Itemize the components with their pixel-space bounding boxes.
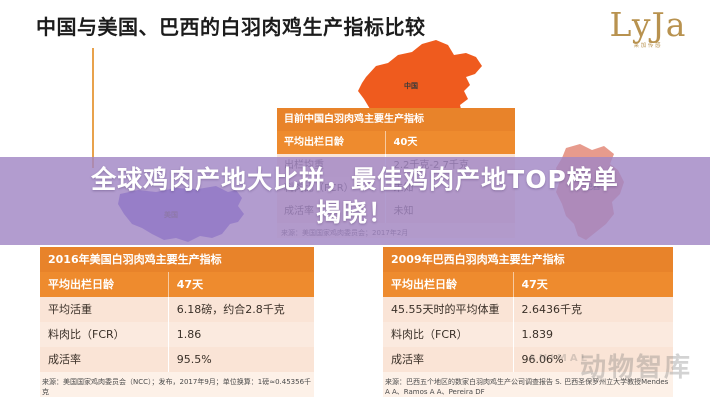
brand-logo: LyJa 莱加传感 xyxy=(600,8,696,54)
table-brazil-source: 来源：巴西五个地区的数家白羽肉鸡生产公司调查报告 S. 巴西圣保罗州立大学教授M… xyxy=(383,372,673,397)
table-cell-key: 平均活重 xyxy=(40,297,169,322)
table-cell-value: 95.5% xyxy=(169,347,314,372)
table-cell-key: 成活率 xyxy=(40,347,169,372)
table-usa-title: 2016年美国白羽肉鸡主要生产指标 xyxy=(40,247,314,272)
table-row: 平均出栏日龄 47天 xyxy=(40,272,314,297)
overlay-headline-line-2: 揭晓！ xyxy=(0,196,710,229)
table-row: 料肉比（FCR） 1.86 xyxy=(40,322,314,347)
map-label-china: 中国 xyxy=(404,81,418,91)
brand-logo-mark: LyJa xyxy=(600,8,696,42)
table-usa-source: 来源：美国国家鸡肉委员会（NCC）；发布，2017年9月；单位换算：1磅≈0.4… xyxy=(40,372,314,397)
table-cell-key: 45.55天时的平均体重 xyxy=(383,297,514,322)
table-cell-key: 料肉比（FCR） xyxy=(40,322,169,347)
table-cell-key: 平均出栏日龄 xyxy=(277,131,386,154)
table-cell-value: 47天 xyxy=(169,272,314,297)
table-row: 成活率 96.06% xyxy=(383,347,673,372)
table-row: 平均出栏日龄 47天 xyxy=(383,272,673,297)
table-cell-value: 1.839 xyxy=(514,322,674,347)
table-china-title: 目前中国白羽肉鸡主要生产指标 xyxy=(277,108,515,131)
table-brazil-title: 2009年巴西白羽肉鸡主要生产指标 xyxy=(383,247,673,272)
table-cell-value: 47天 xyxy=(514,272,674,297)
overlay-headline-line-1: 全球鸡肉产地大比拼，最佳鸡肉产地TOP榜单 xyxy=(0,163,710,196)
accent-divider xyxy=(92,48,94,168)
table-row: 平均活重 6.18磅，约合2.8千克 xyxy=(40,297,314,322)
brand-logo-subtitle: 莱加传感 xyxy=(605,40,691,48)
table-cell-key: 成活率 xyxy=(383,347,514,372)
table-row: 料肉比（FCR） 1.839 xyxy=(383,322,673,347)
table-cell-key: 平均出栏日龄 xyxy=(383,272,514,297)
table-brazil-indicators: 2009年巴西白羽肉鸡主要生产指标 平均出栏日龄 47天 45.55天时的平均体… xyxy=(383,247,673,397)
overlay-headline: 全球鸡肉产地大比拼，最佳鸡肉产地TOP榜单 揭晓！ xyxy=(0,163,710,229)
table-row: 平均出栏日龄 40天 xyxy=(277,131,515,154)
slide-canvas: 中国与美国、巴西的白羽肉鸡生产指标比较 LyJa 莱加传感 中国 美国 巴西 目… xyxy=(0,0,710,400)
table-usa-indicators: 2016年美国白羽肉鸡主要生产指标 平均出栏日龄 47天 平均活重 6.18磅，… xyxy=(40,247,314,397)
table-cell-value: 40天 xyxy=(386,131,515,154)
table-cell-value: 2.6436千克 xyxy=(514,297,674,322)
table-cell-key: 料肉比（FCR） xyxy=(383,322,514,347)
table-cell-value: 6.18磅，约合2.8千克 xyxy=(169,297,314,322)
table-cell-key: 平均出栏日龄 xyxy=(40,272,169,297)
table-row: 45.55天时的平均体重 2.6436千克 xyxy=(383,297,673,322)
table-cell-value: 1.86 xyxy=(169,322,314,347)
table-row: 成活率 95.5% xyxy=(40,347,314,372)
table-cell-value: 96.06% xyxy=(514,347,674,372)
